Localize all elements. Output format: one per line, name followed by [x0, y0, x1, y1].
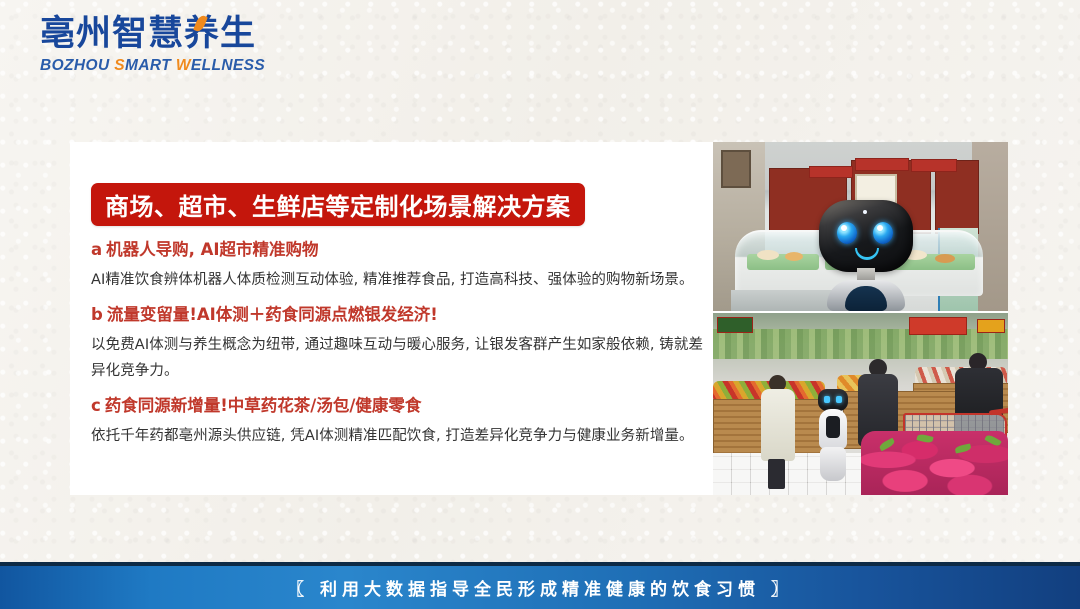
bullet-heading-text-c: 药食同源新增量!中草药花茶/汤包/健康零食	[105, 396, 422, 415]
bullet-list: a机器人导购, AI超市精准购物 AI精准饮食辨体机器人体质检测互动体验, 精准…	[91, 238, 709, 450]
deli-scene-illustration	[713, 142, 1008, 311]
footer-banner: 〖 利用大数据指导全民形成精准健康的饮食习惯 〗	[0, 562, 1080, 609]
bullet-heading-text-a: 机器人导购, AI超市精准购物	[106, 240, 318, 259]
bullet-marker-a: a	[91, 240, 102, 259]
list-item: c药食同源新增量!中草药花茶/汤包/健康零食 依托千年药都亳州源头供应链, 凭A…	[91, 394, 709, 450]
bullet-marker-c: c	[91, 396, 101, 415]
content-card: 商场、超市、生鲜店等定制化场景解决方案 a机器人导购, AI超市精准购物 AI精…	[70, 142, 1008, 495]
bullet-body-b: 以免费AI体测与养生概念为纽带, 通过趣味互动与暖心服务, 让银发客群产生如家般…	[91, 332, 709, 386]
logo-en-part-w: W	[176, 57, 191, 74]
supermarket-scene-illustration	[713, 313, 1008, 495]
bullet-heading-c: c药食同源新增量!中草药花茶/汤包/健康零食	[91, 394, 709, 418]
logo-en-part-s: S	[114, 57, 125, 74]
bullet-heading-text-b: 流量变留量!AI体测＋药食同源点燃银发经济!	[107, 305, 438, 324]
photo-robot-deli	[713, 142, 1008, 311]
robot-illustration	[817, 389, 849, 481]
section-title-text: 商场、超市、生鲜店等定制化场景解决方案	[105, 187, 571, 222]
logo-en-part-mart: MART	[125, 57, 176, 74]
robot-eye-right-icon	[836, 396, 842, 403]
robot-smile-icon	[855, 248, 879, 260]
section-title-banner: 商场、超市、生鲜店等定制化场景解决方案	[91, 183, 585, 226]
logo-en-part-ellness: ELLNESS	[191, 57, 265, 74]
robot-eye-left-icon	[837, 222, 857, 244]
robot-eye-left-icon	[824, 396, 830, 403]
bullet-heading-b: b流量变留量!AI体测＋药食同源点燃银发经济!	[91, 303, 709, 327]
photo-column	[713, 142, 1008, 495]
bullet-heading-a: a机器人导购, AI超市精准购物	[91, 238, 709, 262]
dragonfruit-produce	[861, 431, 1008, 495]
footer-bar: 〖 利用大数据指导全民形成精准健康的饮食习惯 〗	[0, 566, 1080, 609]
shopper-figure	[757, 375, 799, 487]
logo-chinese-text: 亳州智慧养生	[40, 14, 270, 54]
logo-en-part-bozhou: BOZHOU	[40, 57, 114, 74]
list-item: b流量变留量!AI体测＋药食同源点燃银发经济! 以免费AI体测与养生概念为纽带,…	[91, 303, 709, 386]
robot-illustration	[819, 200, 913, 311]
logo-english-text: BOZHOU SMART WELLNESS	[40, 57, 270, 75]
bullet-body-a: AI精准饮食辨体机器人体质检测互动体验, 精准推荐食品, 打造高科技、强体验的购…	[91, 267, 709, 294]
bullet-marker-b: b	[91, 305, 103, 324]
robot-eye-right-icon	[873, 222, 893, 244]
brand-logo: 亳州智慧养生 BOZHOU SMART WELLNESS	[40, 14, 270, 75]
photo-supermarket-aisle	[713, 313, 1008, 495]
list-item: a机器人导购, AI超市精准购物 AI精准饮食辨体机器人体质检测互动体验, 精准…	[91, 238, 709, 294]
slide-root: 亳州智慧养生 BOZHOU SMART WELLNESS 商场、超市、生鲜店等定…	[0, 0, 1080, 609]
bullet-body-c: 依托千年药都亳州源头供应链, 凭AI体测精准匹配饮食, 打造差异化竞争力与健康业…	[91, 423, 709, 450]
footer-text: 〖 利用大数据指导全民形成精准健康的饮食习惯 〗	[287, 575, 793, 600]
